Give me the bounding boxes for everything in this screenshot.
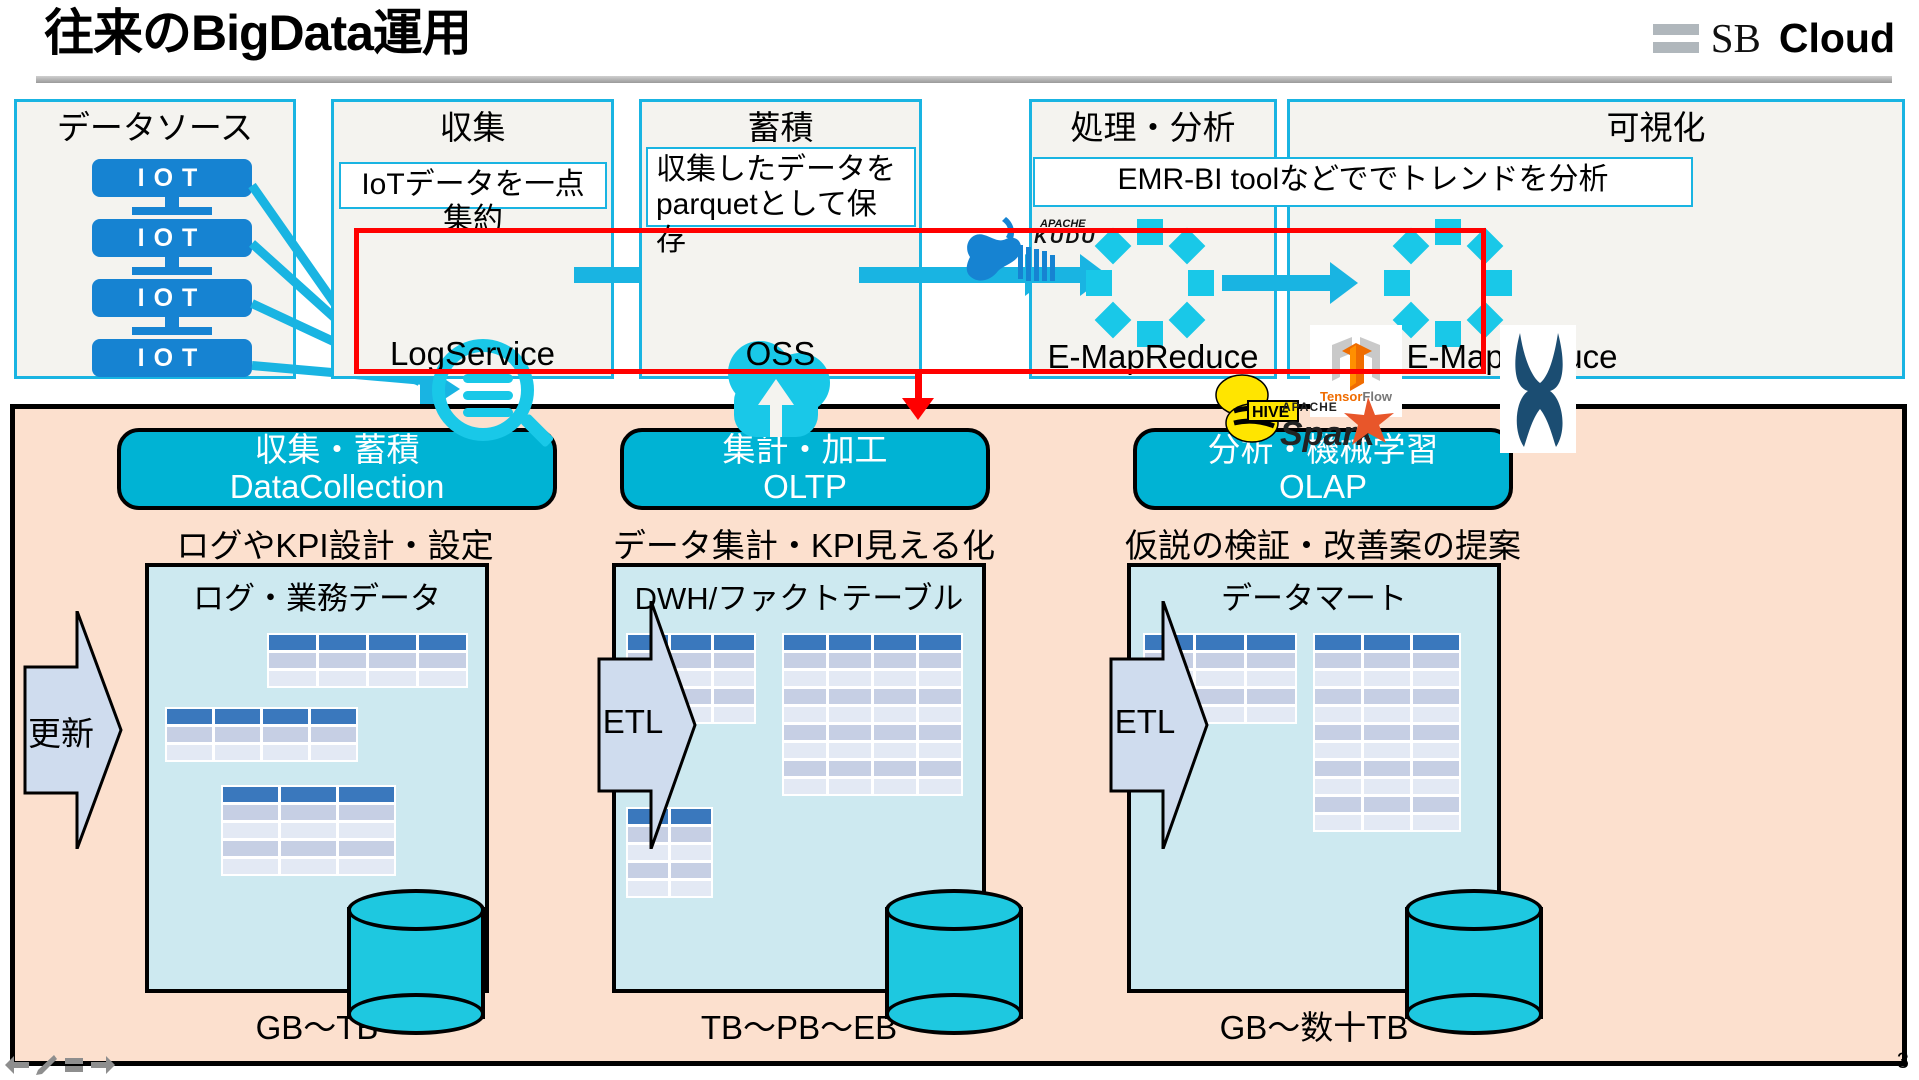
svg-text:KUDU: KUDU — [1034, 227, 1097, 248]
emr-gear-icon — [1384, 219, 1512, 347]
database-cylinder-icon — [1405, 889, 1543, 1035]
panel-title: ログ・業務データ — [149, 573, 485, 618]
mini-table — [267, 633, 468, 688]
iot-stand-icon — [165, 197, 179, 207]
mini-table — [221, 785, 396, 876]
pill-line1: 集計・加工 — [723, 432, 888, 469]
pipeline-row: データソース IOT IOT IOT IOT 収集 LogService IoT… — [14, 99, 1905, 379]
bottom-panel: 更新 収集・蓄積 DataCollection ログやKPI設計・設定 ログ・業… — [10, 404, 1907, 1066]
brand-sb-text: SB — [1711, 14, 1761, 62]
column-data-collection: 収集・蓄積 DataCollection ログやKPI設計・設定 ログ・業務デー… — [115, 409, 627, 1061]
iot-device: IOT — [92, 339, 252, 377]
pill-line2: DataCollection — [230, 469, 445, 506]
iot-base-icon — [132, 207, 212, 215]
update-chevron-arrow: 更新 — [21, 611, 125, 849]
sb-cloud-logo: SB Cloud — [1653, 14, 1895, 62]
analyze-callout: EMR-BI toolなどででトレンドを分析 — [1033, 157, 1693, 207]
brand-cloud-text: Cloud — [1779, 15, 1895, 62]
stage-title: 収集 — [334, 110, 611, 146]
flow-arrow — [1222, 275, 1332, 291]
database-cylinder-icon — [347, 889, 485, 1035]
etl-chevron-arrow: ETL — [1107, 601, 1211, 849]
iot-device: IOT — [92, 219, 252, 257]
iot-base-icon — [132, 327, 212, 335]
update-arrow-label: 更新 — [9, 707, 113, 755]
mini-table — [165, 707, 358, 762]
iot-stand-icon — [165, 257, 179, 267]
database-cylinder-icon — [885, 889, 1023, 1035]
stage-title: 可視化 — [1410, 110, 1902, 146]
tensorflow-label: TensorFlow — [1310, 389, 1402, 404]
prev-arrow-icon[interactable] — [4, 1054, 30, 1076]
highlight-down-arrow-icon — [915, 372, 922, 398]
apache-kudu-logo: APACHE KUDU — [954, 209, 1104, 299]
iot-stand-icon — [165, 317, 179, 327]
pill-line2: OLTP — [763, 469, 847, 506]
stage-title: 蓄積 — [642, 110, 919, 146]
iot-device: IOT — [92, 159, 252, 197]
column-description: データ集計・KPI見える化 — [560, 519, 1048, 567]
stage-title: 処理・分析 — [1032, 110, 1274, 146]
iot-device: IOT — [92, 279, 252, 317]
apache-kylin-logo — [1500, 325, 1576, 453]
column-description: 仮説の検証・改善案の提案 — [1079, 519, 1567, 567]
etl-chevron-arrow: ETL — [595, 601, 699, 849]
pill-oltp: 集計・加工 OLTP — [620, 428, 990, 510]
page-title: 往来のBigData運用 — [44, 6, 471, 61]
stage-service-name: E-MapReduce — [1029, 339, 1277, 375]
slide-nav-controls[interactable] — [4, 1054, 116, 1076]
store-callout-line1: 収集したデータを — [656, 152, 906, 187]
title-divider — [36, 76, 1892, 83]
pill-line1: 収集・蓄積 — [255, 432, 420, 469]
page-number: 3 — [1897, 1048, 1909, 1074]
tensorflow-flow-text: Flow — [1362, 389, 1392, 404]
iot-base-icon — [132, 267, 212, 275]
column-description: ログやKPI設計・設定 — [91, 519, 579, 567]
collect-callout: IoTデータを一点集約 — [339, 162, 607, 209]
emr-gear-icon — [1086, 219, 1214, 347]
stage-service-name: OSS — [642, 336, 919, 372]
stage-service-name: LogService — [334, 336, 611, 372]
logo-bars-icon — [1653, 24, 1699, 53]
store-callout: 収集したデータを parquetとして保存 — [646, 147, 916, 227]
pill-line2: OLAP — [1279, 469, 1367, 506]
stage-collect: 収集 LogService — [331, 99, 614, 379]
stage-title: データソース — [17, 110, 293, 146]
menu-icon[interactable] — [62, 1054, 86, 1076]
next-arrow-icon[interactable] — [90, 1054, 116, 1076]
etl-arrow-label: ETL — [581, 703, 685, 741]
mini-table — [1313, 633, 1461, 832]
pen-icon[interactable] — [34, 1054, 58, 1076]
etl-arrow-label: ETL — [1093, 703, 1197, 741]
store-callout-line2: parquetとして保存 — [656, 187, 906, 258]
mini-table — [782, 633, 963, 796]
tensorflow-tensor-text: Tensor — [1320, 389, 1362, 404]
